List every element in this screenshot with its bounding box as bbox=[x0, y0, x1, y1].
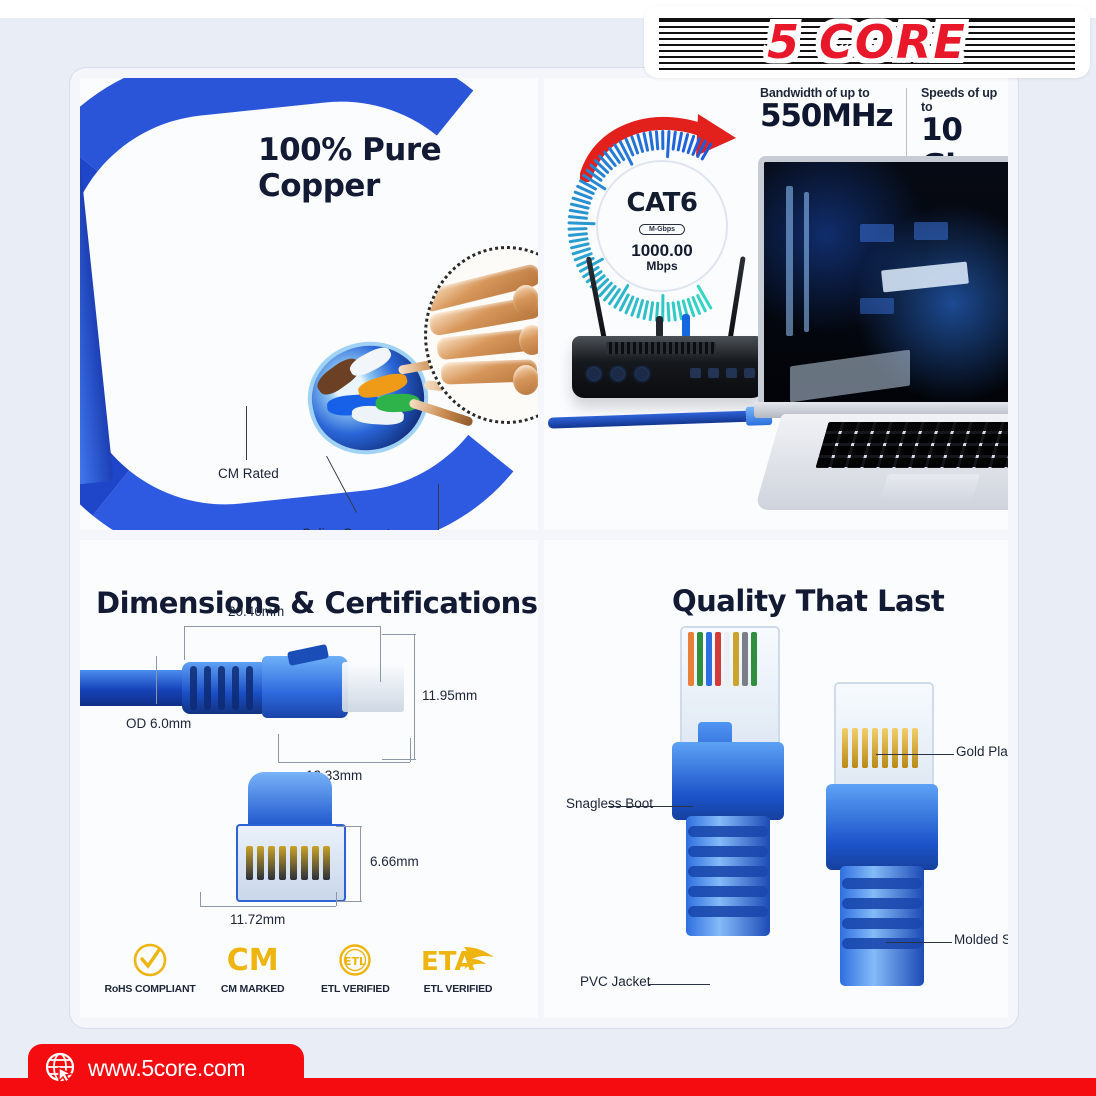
cert-eta: ETA ETL VERIFIED bbox=[412, 940, 504, 995]
rj45-head bbox=[262, 656, 348, 718]
laptop bbox=[758, 156, 1008, 506]
dimtick-fw-right bbox=[336, 892, 337, 906]
rohs-check-icon bbox=[104, 940, 196, 980]
dimtick-fh-bottom bbox=[336, 901, 362, 902]
connector-side-view bbox=[80, 648, 400, 726]
rj45-connector-right bbox=[826, 682, 956, 982]
leader-gold bbox=[876, 754, 954, 755]
spec-bandwidth: Bandwidth of up to 550MHz bbox=[760, 86, 892, 134]
wifi-router bbox=[572, 336, 764, 398]
dimline-length bbox=[184, 626, 380, 627]
cert-rohs: RoHS COMPLIANT bbox=[104, 940, 196, 995]
panel-title-quality: Quality That Last bbox=[672, 584, 944, 618]
front-pins bbox=[246, 846, 330, 880]
leader-molded bbox=[886, 942, 952, 943]
globe-cursor-icon bbox=[44, 1051, 78, 1085]
svg-text:ETL: ETL bbox=[344, 955, 366, 968]
strain-relief-boot bbox=[182, 662, 268, 714]
dimline-front-width bbox=[200, 906, 336, 907]
brand-logo: 5 CORE bbox=[644, 6, 1090, 78]
cert-etl: ETL ETL VERIFIED bbox=[309, 940, 401, 995]
panel-dimensions: Dimensions & Certifications 20.46mm 11.9… bbox=[80, 540, 538, 1018]
laptop-trackpad bbox=[880, 474, 980, 502]
website-url-pill[interactable]: www.5core.com bbox=[28, 1044, 304, 1092]
leader-line-cm-rated bbox=[246, 406, 247, 460]
svg-text:ETA: ETA bbox=[421, 947, 475, 977]
cert-etl-label: ETL VERIFIED bbox=[309, 983, 401, 995]
dimline-height bbox=[414, 634, 415, 760]
router-led-group bbox=[588, 368, 648, 380]
rj45-tip bbox=[342, 662, 404, 712]
gauge-badge: M-Gbps bbox=[639, 224, 685, 235]
dimtick-width-right bbox=[410, 738, 411, 762]
snagless-boot-left bbox=[672, 742, 784, 820]
dimtick-width-left bbox=[278, 734, 279, 762]
panel-speed: Bandwidth of up to 550MHz Speeds of up t… bbox=[544, 78, 1008, 530]
leader-pvc bbox=[648, 984, 710, 985]
router-plug-blue bbox=[682, 314, 690, 338]
dimline-width bbox=[278, 762, 410, 763]
router-vent bbox=[606, 342, 716, 354]
label-gold-plated-contacts: Gold Plated Contacts bbox=[956, 744, 1008, 759]
website-url-text: www.5core.com bbox=[88, 1055, 245, 1082]
dimension-front-width: 11.72mm bbox=[230, 912, 285, 927]
blue-patch-cable bbox=[548, 410, 760, 428]
gauge-value-unit: Mbps bbox=[566, 260, 758, 273]
panel-quality: Quality That Last bbox=[544, 540, 1008, 1018]
content-card: 100% Pure Copper CM Rated Spline Separat… bbox=[70, 68, 1018, 1028]
panel-title-dimensions: Dimensions & Certifications bbox=[96, 586, 538, 620]
router-lan-ports bbox=[690, 368, 755, 378]
dimtick-length-left bbox=[184, 626, 185, 660]
label-molded-strain-relief: Molded Strain Relief bbox=[954, 932, 1008, 947]
gauge-category: CAT6 bbox=[566, 188, 758, 218]
dimtick-od bbox=[156, 656, 157, 704]
dimtick-fw-left bbox=[200, 892, 201, 906]
label-snagless-boot: Snagless Boot bbox=[566, 796, 653, 811]
cm-mark-icon: CM bbox=[207, 940, 299, 980]
dimtick-height-top bbox=[382, 634, 416, 635]
spec-bandwidth-value: 550MHz bbox=[760, 98, 892, 134]
gauge-value-number: 1000.00 bbox=[631, 241, 692, 260]
dimension-od: OD 6.0mm bbox=[126, 716, 191, 731]
dimension-height: 11.95mm bbox=[422, 688, 477, 703]
dimension-front-height: 6.66mm bbox=[370, 854, 419, 869]
front-boot bbox=[248, 772, 332, 828]
certification-row: RoHS COMPLIANT CM CM MARKED ETL ETL VERI… bbox=[104, 940, 504, 995]
gauge-value: 1000.00 Mbps bbox=[566, 242, 758, 272]
dimline-front-height bbox=[360, 826, 361, 902]
router-plug-black bbox=[656, 316, 663, 338]
router-led-wlan bbox=[636, 368, 648, 380]
router-led-power bbox=[588, 368, 600, 380]
laptop-keyboard bbox=[815, 422, 1008, 468]
spec-speed-caption: Speeds of up to bbox=[921, 86, 1008, 114]
laptop-screen bbox=[758, 156, 1008, 412]
connector-front-view bbox=[230, 772, 348, 922]
molded-boot-right bbox=[826, 784, 938, 870]
cable-body bbox=[80, 670, 188, 706]
panel-pure-copper: 100% Pure Copper CM Rated Spline Separat… bbox=[80, 78, 538, 530]
dimtick-fh-top bbox=[336, 826, 362, 827]
color-wires-left bbox=[688, 632, 757, 686]
eta-swoosh-icon: ETA bbox=[412, 940, 504, 980]
infographic-stage: 5 CORE bbox=[0, 0, 1096, 1096]
dimension-length: 20.46mm bbox=[228, 604, 284, 619]
cert-eta-label: ETL VERIFIED bbox=[412, 983, 504, 995]
router-led-internet bbox=[612, 368, 624, 380]
logo-inner: 5 CORE bbox=[659, 14, 1075, 70]
label-cm-rated: CM Rated bbox=[218, 466, 279, 481]
label-pvc-jacket: PVC Jacket bbox=[580, 974, 651, 989]
laptop-screen-image bbox=[764, 162, 1008, 406]
cert-rohs-label: RoHS COMPLIANT bbox=[104, 983, 196, 995]
cert-cm-label: CM MARKED bbox=[207, 983, 299, 995]
etl-circle-icon: ETL bbox=[309, 940, 401, 980]
rj45-connector-left bbox=[672, 626, 802, 956]
logo-text: 5 CORE bbox=[659, 14, 1075, 70]
gold-contacts-right bbox=[842, 728, 918, 768]
cert-cm: CM CM MARKED bbox=[207, 940, 299, 995]
panel-title-copper: 100% Pure Copper bbox=[258, 132, 538, 204]
label-spline-separator: Spline Separator bbox=[302, 526, 403, 530]
leader-line-twisted bbox=[438, 484, 439, 530]
